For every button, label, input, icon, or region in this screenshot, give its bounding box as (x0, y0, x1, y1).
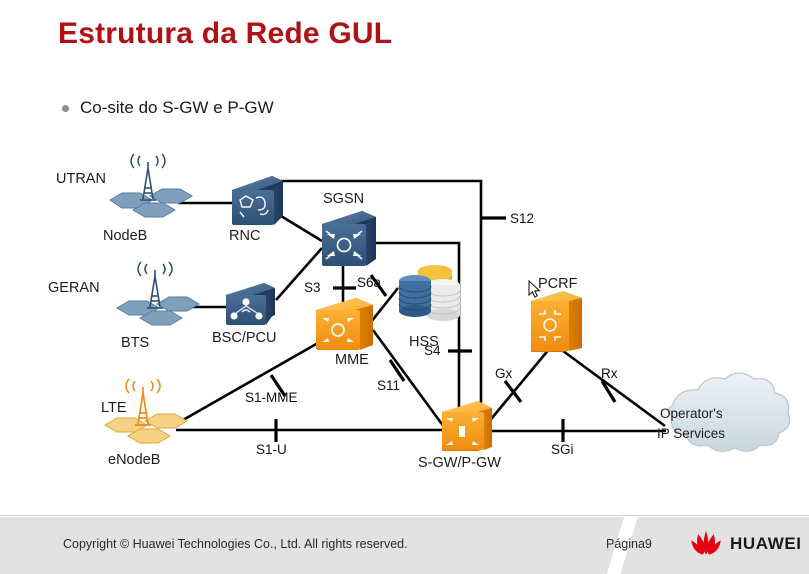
node-rnc (232, 176, 283, 225)
node-label-enodeb: eNodeB (108, 452, 160, 468)
page-number: Página9 (606, 537, 652, 551)
interface-label-s1-mme: S1-MME (245, 390, 298, 405)
huawei-brand: HUAWEI (689, 530, 802, 557)
interface-label-s11: S11 (377, 378, 400, 393)
node-label-pcrf: PCRF (538, 276, 577, 292)
interface-label-s4: S4 (424, 343, 441, 358)
node-label-bts: BTS (121, 335, 149, 351)
interface-label-sgi: SGi (551, 442, 574, 457)
slide-footer: Copyright © Huawei Technologies Co., Ltd… (0, 517, 809, 574)
cloud-label-line1: Operator's (660, 406, 723, 421)
slide-canvas: Estrutura da Rede GUL Co-site do S-GW e … (0, 0, 809, 574)
cloud-label-line2: IP Services (657, 426, 725, 441)
node-label-nodeb: NodeB (103, 228, 147, 244)
node-sgsn (322, 211, 376, 266)
footer-divider (0, 515, 809, 516)
node-label-mme: MME (335, 352, 369, 368)
node-nodeb (110, 154, 192, 217)
node-label-rnc: RNC (229, 228, 260, 244)
copyright-text: Copyright © Huawei Technologies Co., Ltd… (63, 537, 408, 551)
node-label-geran: GERAN (48, 280, 100, 296)
node-label-sgsn: SGSN (323, 191, 364, 207)
node-label-bscpcu: BSC/PCU (212, 330, 276, 346)
interface-label-s12: S12 (510, 211, 534, 226)
node-label-sgw-pgw: S-GW/P-GW (418, 455, 501, 471)
interface-label-gx: Gx (495, 366, 512, 381)
node-label-lte: LTE (101, 400, 127, 416)
interface-label-s1-u: S1-U (256, 442, 287, 457)
node-bts (117, 262, 199, 325)
node-sgw-pgw (442, 401, 492, 451)
node-hss (399, 265, 460, 321)
interface-label-rx: Rx (601, 366, 618, 381)
node-mme (316, 298, 373, 350)
node-label-utran: UTRAN (56, 171, 106, 187)
huawei-wordmark: HUAWEI (730, 534, 802, 554)
interface-label-s6a: S6a (357, 275, 381, 290)
node-pcrf (531, 291, 582, 352)
interface-label-s3: S3 (304, 280, 321, 295)
huawei-logo-icon (689, 530, 723, 557)
node-bscpcu (226, 283, 275, 325)
network-diagram: UTRAN NodeB RNC GERAN BTS BSC/PCU SGSN M… (0, 0, 809, 510)
